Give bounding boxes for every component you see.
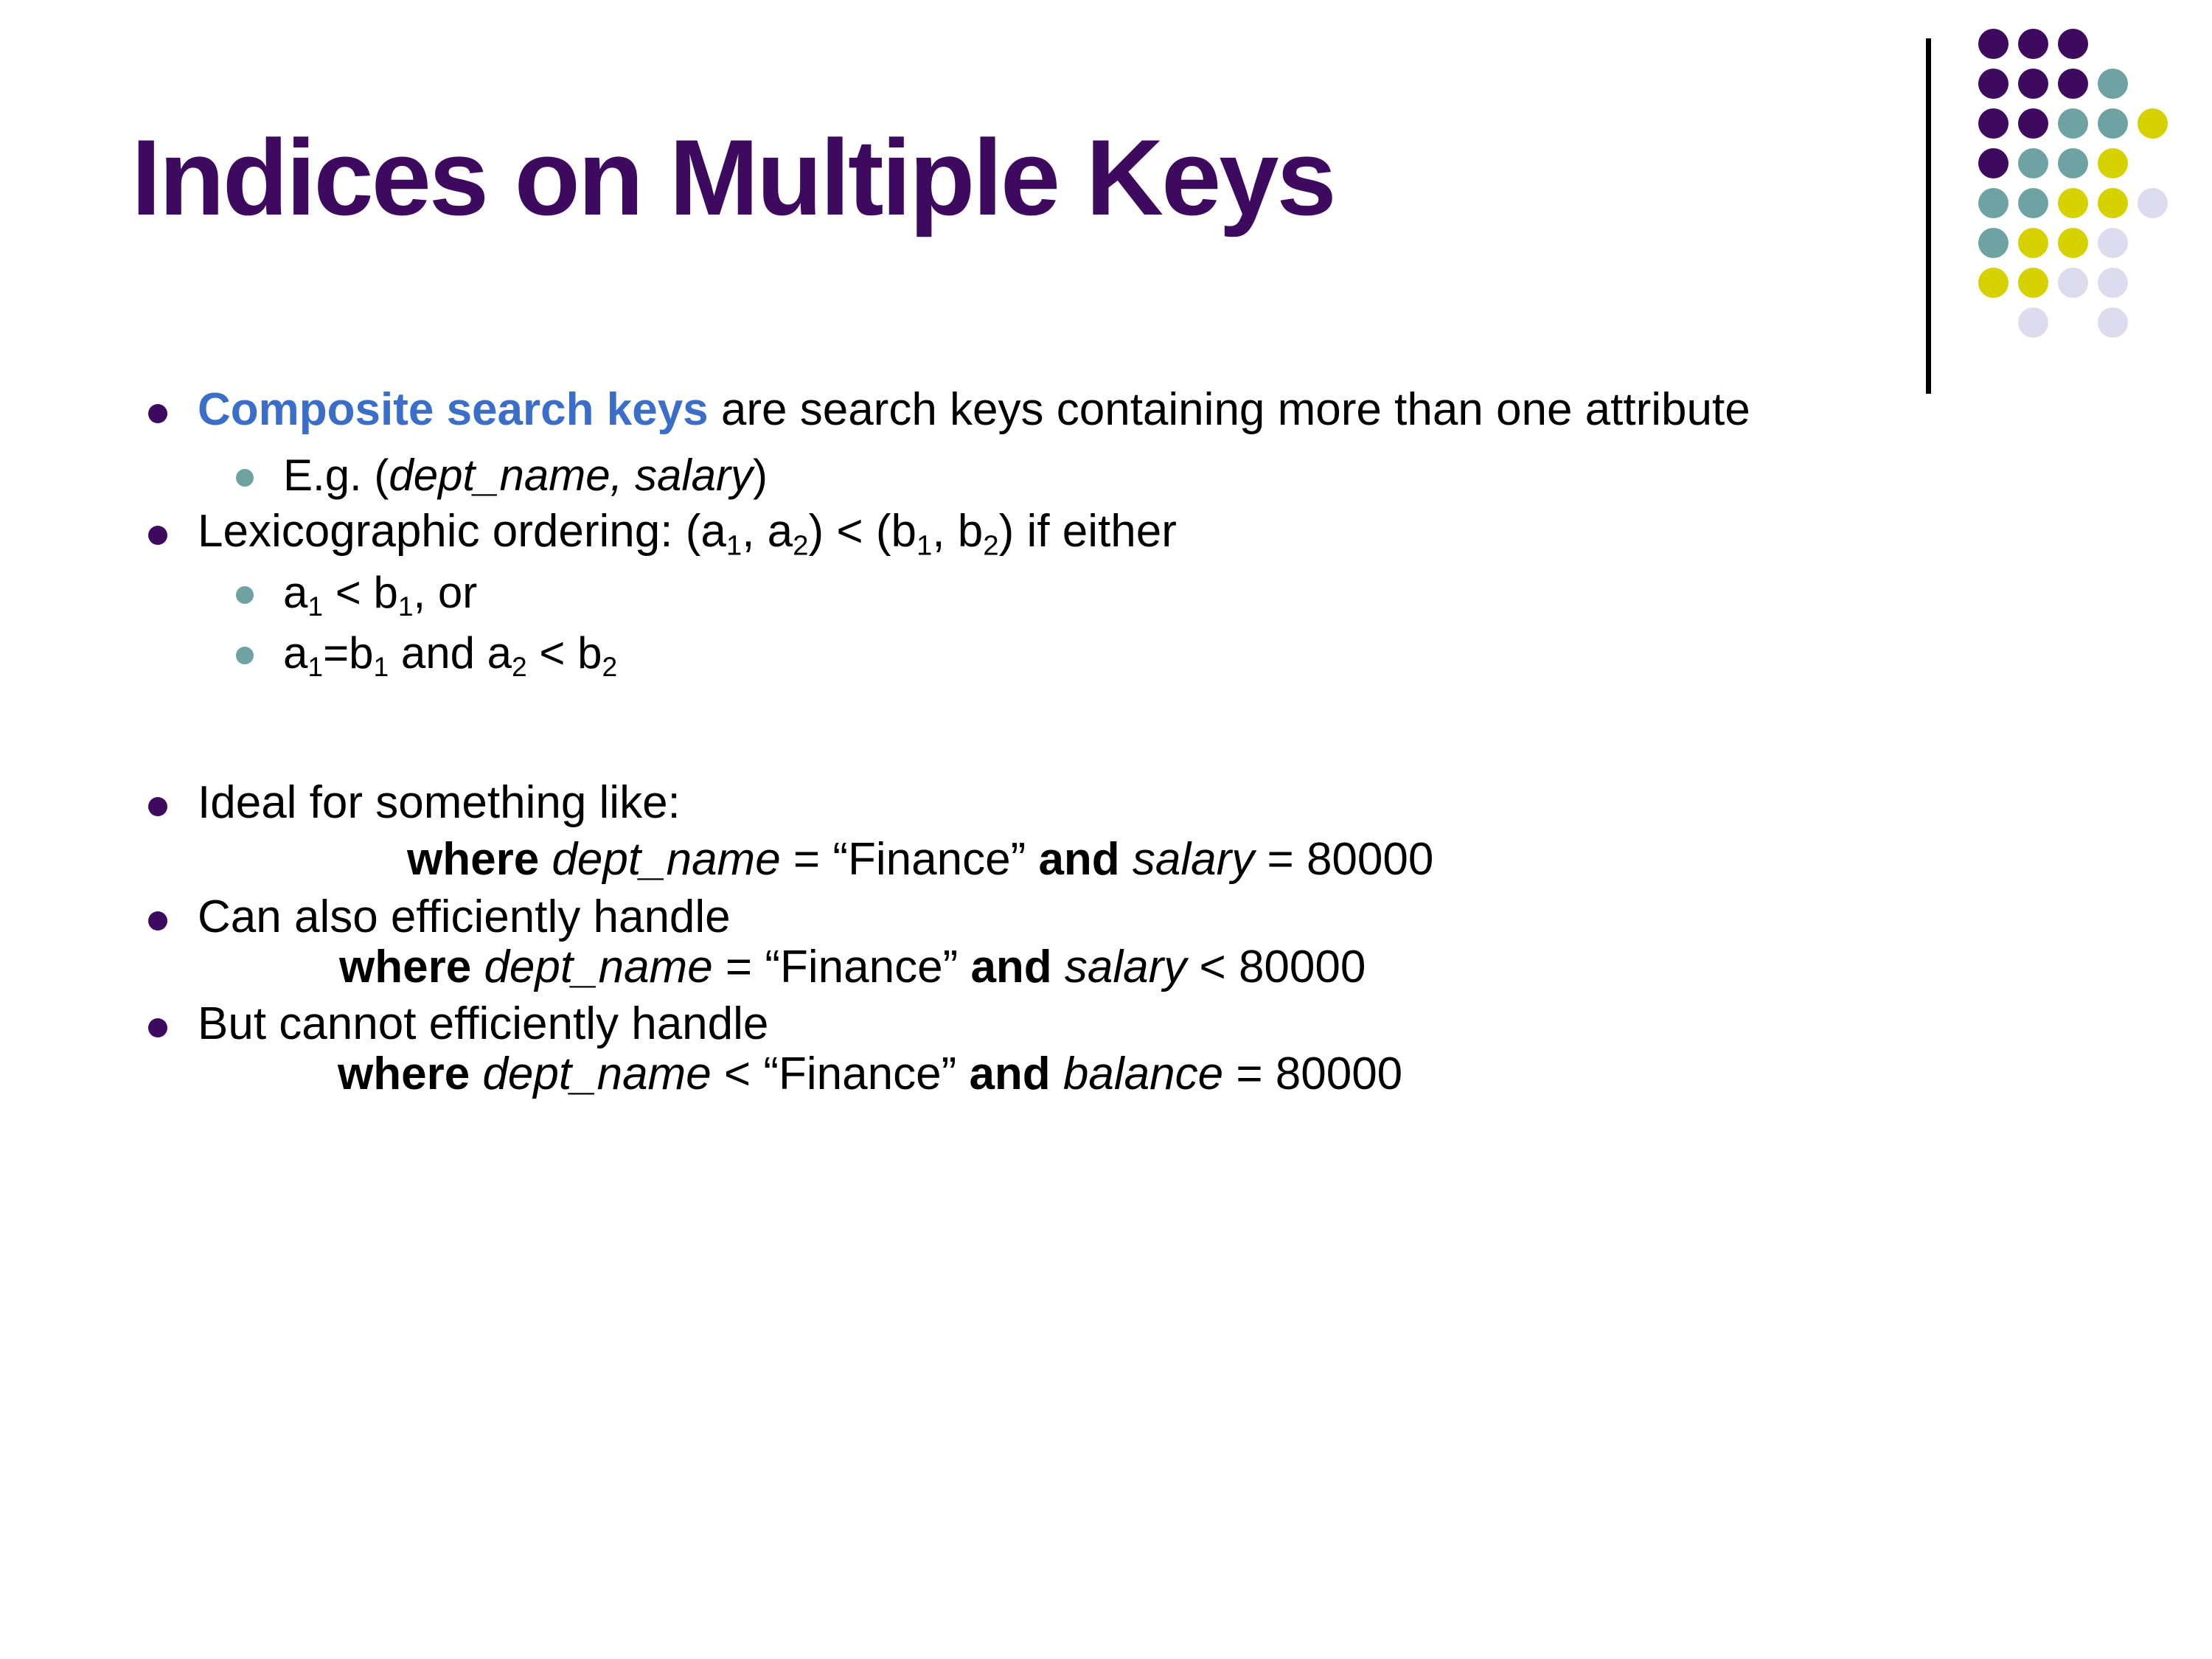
bullet-text: Ideal for something like: [198,778,2131,828]
sql-field-dept-name: dept_name [484,942,712,992]
dot-teal-icon [2058,148,2088,178]
dot-empty-icon [2138,268,2168,298]
dot-teal-icon [1978,228,2008,258]
bullet-text: E.g. (dept_name, salary) [283,451,2131,499]
bullet-marker-level1-icon [118,385,198,423]
dot-grid-row [1973,24,2172,63]
bullet-marker-level2-icon [206,629,283,664]
dot-empty-icon [2138,307,2168,338]
dot-empty-icon [2138,148,2168,178]
dot-yellow-icon [2058,228,2088,258]
dot-purple-icon [2058,69,2088,99]
sql-keyword-and: and [970,942,1051,992]
dot-grid-row [1973,183,2172,223]
lex-mid1: , a [742,506,793,557]
cond-b: < b [323,568,398,617]
dot-grid-cell [2053,63,2093,103]
bullet-marker-level2-icon [206,451,283,487]
dot-grid-cell [2093,183,2132,223]
bullet-marker-level1-icon [118,778,198,816]
dot-grid-cell [2093,103,2132,143]
decorative-dot-motif [1910,0,2212,413]
dot-purple-icon [2018,29,2048,59]
sql-value: = 80000 [1223,1048,1402,1099]
sql-clause-equals-salary: where dept_name = “Finance” and salary =… [407,835,2131,885]
dot-grid-cell [2093,302,2132,342]
sql-value: < 80000 [1186,942,1366,992]
sql-clause-less-than-salary: where dept_name = “Finance” and salary <… [339,942,2131,992]
dot-empty-icon [2138,69,2168,99]
dot-teal-icon [2018,148,2048,178]
subscript: 1 [373,651,389,682]
lex-post: ) if either [999,506,1177,557]
sql-field-dept-name: dept_name [552,834,780,885]
subscript: 2 [793,530,808,562]
dot-purple-icon [2018,69,2048,99]
subscript: 2 [983,530,998,562]
cond-a: a [283,568,307,617]
accent-term: Composite search keys [198,384,709,435]
dot-yellow-icon [2138,108,2168,139]
dot-grid-row [1973,262,2172,302]
dot-empty-icon [2058,307,2088,338]
dot-empty-icon [2098,29,2128,59]
sql-field-balance: balance [1063,1048,1223,1099]
dot-grid-cell [2132,302,2172,342]
dot-purple-icon [2018,108,2048,139]
bullet-text: a1=b1 and a2 < b2 [283,629,2131,682]
vertical-rule-divider [1926,38,1931,394]
dot-grid-cell [1973,183,2013,223]
dot-grid-cell [2053,143,2093,183]
dot-grid-row [1973,103,2172,143]
bullet-text-rest: are search keys containing more than one… [709,384,1750,435]
dot-grid-cell [2093,262,2132,302]
bullet-marker-level1-icon [118,507,198,545]
dot-grid-row [1973,143,2172,183]
dot-grid [1973,24,2172,342]
bullet-can-also-handle: Can also efficiently handle [118,892,2131,942]
dot-empty-icon [2138,29,2168,59]
sql-value: = 80000 [1254,834,1433,885]
dot-grid-cell [2013,183,2053,223]
sql-field-salary: salary [1133,834,1254,885]
subscript: 1 [726,530,742,562]
dot-grid-cell [2132,262,2172,302]
dot-grid-cell [2053,262,2093,302]
dot-teal-icon [2018,188,2048,218]
dot-grid-cell [2013,302,2053,342]
bullet-text: Composite search keys are search keys co… [198,385,2131,435]
dot-yellow-icon [2098,188,2128,218]
dot-grid-cell [2013,103,2053,143]
subscript: 1 [917,530,932,562]
dot-yellow-icon [1978,268,2008,298]
dot-lavender-icon [2018,307,2048,338]
bullet-text: Can also efficiently handle [198,892,2131,942]
sql-clause-range-dept-name: where dept_name < “Finance” and balance … [338,1049,2131,1099]
dot-grid-cell [2132,24,2172,63]
dot-grid-row [1973,302,2172,342]
dot-grid-cell [1973,262,2013,302]
dot-purple-icon [1978,29,2008,59]
lex-mid2: ) < (b [809,506,917,557]
dot-grid-cell [2053,223,2093,262]
dot-grid-cell [2013,143,2053,183]
dot-grid-row [1973,223,2172,262]
dot-teal-icon [2058,108,2088,139]
bullet-cannot-handle: But cannot efficiently handle [118,999,2131,1049]
cond-a: a [283,628,307,678]
dot-grid-cell [1973,143,2013,183]
cond-c: , or [414,568,478,617]
dot-grid-cell [2093,63,2132,103]
sql-keyword-where: where [407,834,539,885]
dot-grid-cell [2093,223,2132,262]
dot-grid-cell [2053,183,2093,223]
sql-operator-value: = “Finance” [713,942,971,992]
lex-mid3: , b [932,506,983,557]
bullet-lexicographic-ordering: Lexicographic ordering: (a1, a2) < (b1, … [118,507,2131,561]
cond-b: =b [323,628,373,678]
dot-yellow-icon [2018,228,2048,258]
dot-teal-icon [2098,69,2128,99]
cond-d: < b [527,628,602,678]
dot-grid-cell [2093,24,2132,63]
dot-grid-cell [1973,302,2013,342]
bullet-marker-level1-icon [118,999,198,1037]
dot-purple-icon [1978,148,2008,178]
subscript: 2 [602,651,617,682]
dot-grid-cell [2132,63,2172,103]
dot-grid-cell [2132,143,2172,183]
dot-grid-cell [2132,103,2172,143]
dot-empty-icon [2138,228,2168,258]
dot-grid-cell [2053,302,2093,342]
dot-grid-cell [2132,183,2172,223]
dot-grid-cell [2013,223,2053,262]
dot-yellow-icon [2018,268,2048,298]
subscript: 1 [398,591,414,622]
dot-grid-cell [1973,63,2013,103]
dot-lavender-icon [2058,268,2088,298]
bullet-marker-level2-icon [206,568,283,604]
dot-grid-cell [1973,223,2013,262]
dot-lavender-icon [2098,307,2128,338]
dot-lavender-icon [2138,188,2168,218]
sql-field-dept-name: dept_name [482,1048,711,1099]
dot-lavender-icon [2098,228,2128,258]
subscript: 1 [307,651,323,682]
example-attributes: dept_name, salary [389,451,753,500]
bullet-example-composite-key: E.g. (dept_name, salary) [206,451,2131,499]
dot-lavender-icon [2098,268,2128,298]
example-suffix: ) [753,451,768,500]
sql-operator-value: = “Finance” [781,834,1039,885]
bullet-text: Lexicographic ordering: (a1, a2) < (b1, … [198,507,2131,561]
bullet-text: But cannot efficiently handle [198,999,2131,1049]
dot-yellow-icon [2098,148,2128,178]
sql-field-salary: salary [1065,942,1186,992]
example-prefix: E.g. ( [283,451,389,500]
bullet-condition-a1-lt-b1: a1 < b1, or [206,568,2131,622]
sql-keyword-where: where [338,1048,470,1099]
bullet-ideal-for: Ideal for something like: [118,778,2131,828]
bullet-composite-search-keys: Composite search keys are search keys co… [118,385,2131,435]
bullet-condition-a1-eq-b1: a1=b1 and a2 < b2 [206,629,2131,682]
page-title: Indices on Multiple Keys [131,124,1335,232]
bullet-text: a1 < b1, or [283,568,2131,622]
cond-c: and a [389,628,512,678]
lex-pre: Lexicographic ordering: (a [198,506,726,557]
dot-grid-cell [2093,143,2132,183]
dot-grid-row [1973,63,2172,103]
dot-teal-icon [1978,188,2008,218]
sql-operator-value: < “Finance” [712,1048,970,1099]
dot-yellow-icon [2058,188,2088,218]
sql-keyword-and: and [1038,834,1119,885]
slide-body: Composite search keys are search keys co… [118,385,2131,1099]
dot-purple-icon [2058,29,2088,59]
subscript: 1 [307,591,323,622]
dot-grid-cell [1973,24,2013,63]
dot-empty-icon [1978,307,2008,338]
dot-grid-cell [2132,223,2172,262]
dot-grid-cell [2053,103,2093,143]
dot-grid-cell [1973,103,2013,143]
dot-grid-cell [2013,24,2053,63]
sql-keyword-where: where [339,942,471,992]
dot-grid-cell [2053,24,2093,63]
dot-grid-cell [2013,63,2053,103]
dot-grid-cell [2013,262,2053,302]
subscript: 2 [512,651,527,682]
dot-purple-icon [1978,69,2008,99]
slide-canvas: Indices on Multiple Keys Composite searc… [0,0,2212,1659]
dot-teal-icon [2098,108,2128,139]
sql-keyword-and: and [969,1048,1050,1099]
bullet-marker-level1-icon [118,892,198,931]
dot-purple-icon [1978,108,2008,139]
